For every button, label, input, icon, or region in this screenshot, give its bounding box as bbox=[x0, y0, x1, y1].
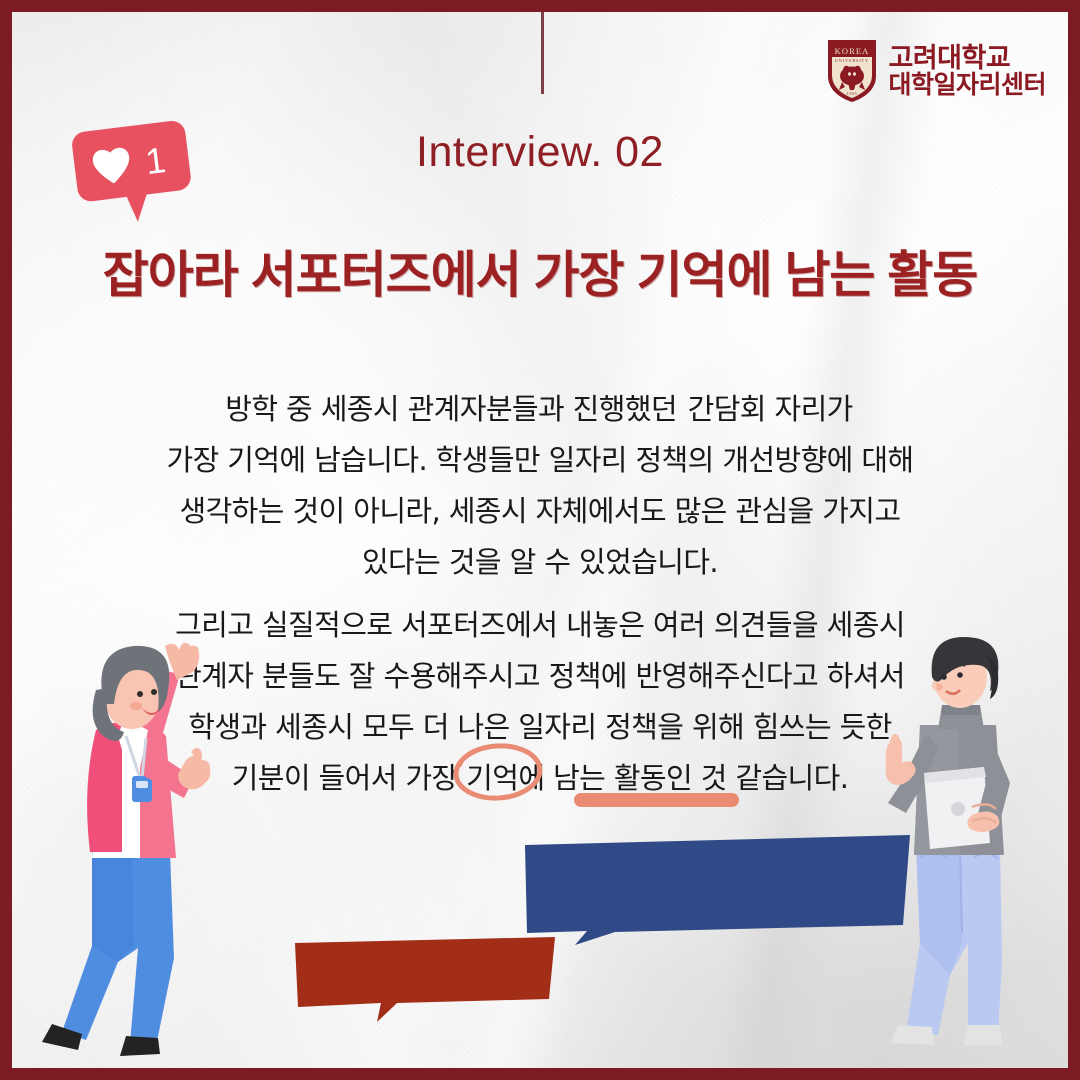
body-text-plain: 학생과 세종시 모두 더 나은 일자리 정책을 위해 힘쓰는 듯한 bbox=[188, 710, 892, 744]
korea-university-logo: KOREA UNIVERSITY 1905 고려대학교 대학일자리센터 bbox=[826, 38, 1046, 104]
logo-wordmark: 고려대학교 대학일자리센터 bbox=[888, 45, 1046, 98]
body-line-3: 생각하는 것이 아니라, 세종시 자체에서도 많은 관심을 가지고 bbox=[82, 486, 998, 537]
body-text-plain: 에 남는 활동인 것 같습니다. bbox=[518, 761, 848, 795]
page-title: 잡아라 서포터즈에서 가장 기억에 남는 활동 bbox=[12, 235, 1068, 307]
korea-university-crest-icon: KOREA UNIVERSITY 1905 bbox=[826, 38, 878, 104]
speech-bubble-blue bbox=[525, 835, 910, 950]
body-text-plain: 가장 기억에 남습니다. 학생들만 일자리 정책의 개선방향에 대해 bbox=[166, 443, 913, 477]
body-line-4: 있다는 것을 알 수 있었습니다. bbox=[82, 537, 998, 588]
body-text-plain: 방학 중 세종시 관계자분들과 진행했던 bbox=[225, 392, 685, 426]
body-text-plain: 관계자 분들도 잘 수용해주시고 정책에 반영해주신다고 하셔서 bbox=[175, 659, 905, 693]
coral-underline-annotation-icon bbox=[574, 793, 739, 807]
yellow-highlight-text: 간담회 자리가 bbox=[686, 384, 855, 435]
id-badge-icon bbox=[132, 776, 152, 802]
body-text-plain: 그리고 실질적으로 서포터즈에서 내놓은 여러 의견들을 세종시 bbox=[175, 608, 905, 642]
logo-center-name: 대학일자리센터 bbox=[888, 73, 1046, 98]
social-card: KOREA UNIVERSITY 1905 고려대학교 대학일자리센터 bbox=[0, 0, 1080, 1080]
svg-text:KOREA: KOREA bbox=[835, 46, 870, 56]
body-line-1: 방학 중 세종시 관계자분들과 진행했던 간담회 자리가 bbox=[82, 384, 998, 435]
body-text-plain: 기분이 들어서 가장 bbox=[232, 761, 467, 795]
interview-label: Interview. 02 bbox=[12, 128, 1068, 177]
svg-text:1905: 1905 bbox=[847, 91, 857, 96]
character-pointing-man bbox=[876, 633, 1046, 1068]
header-divider bbox=[541, 12, 544, 94]
body-line-2: 가장 기억에 남습니다. 학생들만 일자리 정책의 개선방향에 대해 bbox=[82, 435, 998, 486]
coral-circled-word-text: 기억 bbox=[466, 761, 518, 795]
character-waving-woman bbox=[34, 628, 224, 1068]
logo-university-name: 고려대학교 bbox=[888, 45, 1046, 72]
speech-bubble-red bbox=[295, 937, 555, 1027]
coral-circled-word: 기억 bbox=[466, 753, 518, 804]
svg-text:UNIVERSITY: UNIVERSITY bbox=[835, 58, 869, 63]
body-text-plain: 있다는 것을 알 수 있었습니다. bbox=[362, 545, 718, 579]
body-text-plain: 생각하는 것이 아니라, 세종시 자체에서도 많은 관심을 가지고 bbox=[180, 494, 901, 528]
